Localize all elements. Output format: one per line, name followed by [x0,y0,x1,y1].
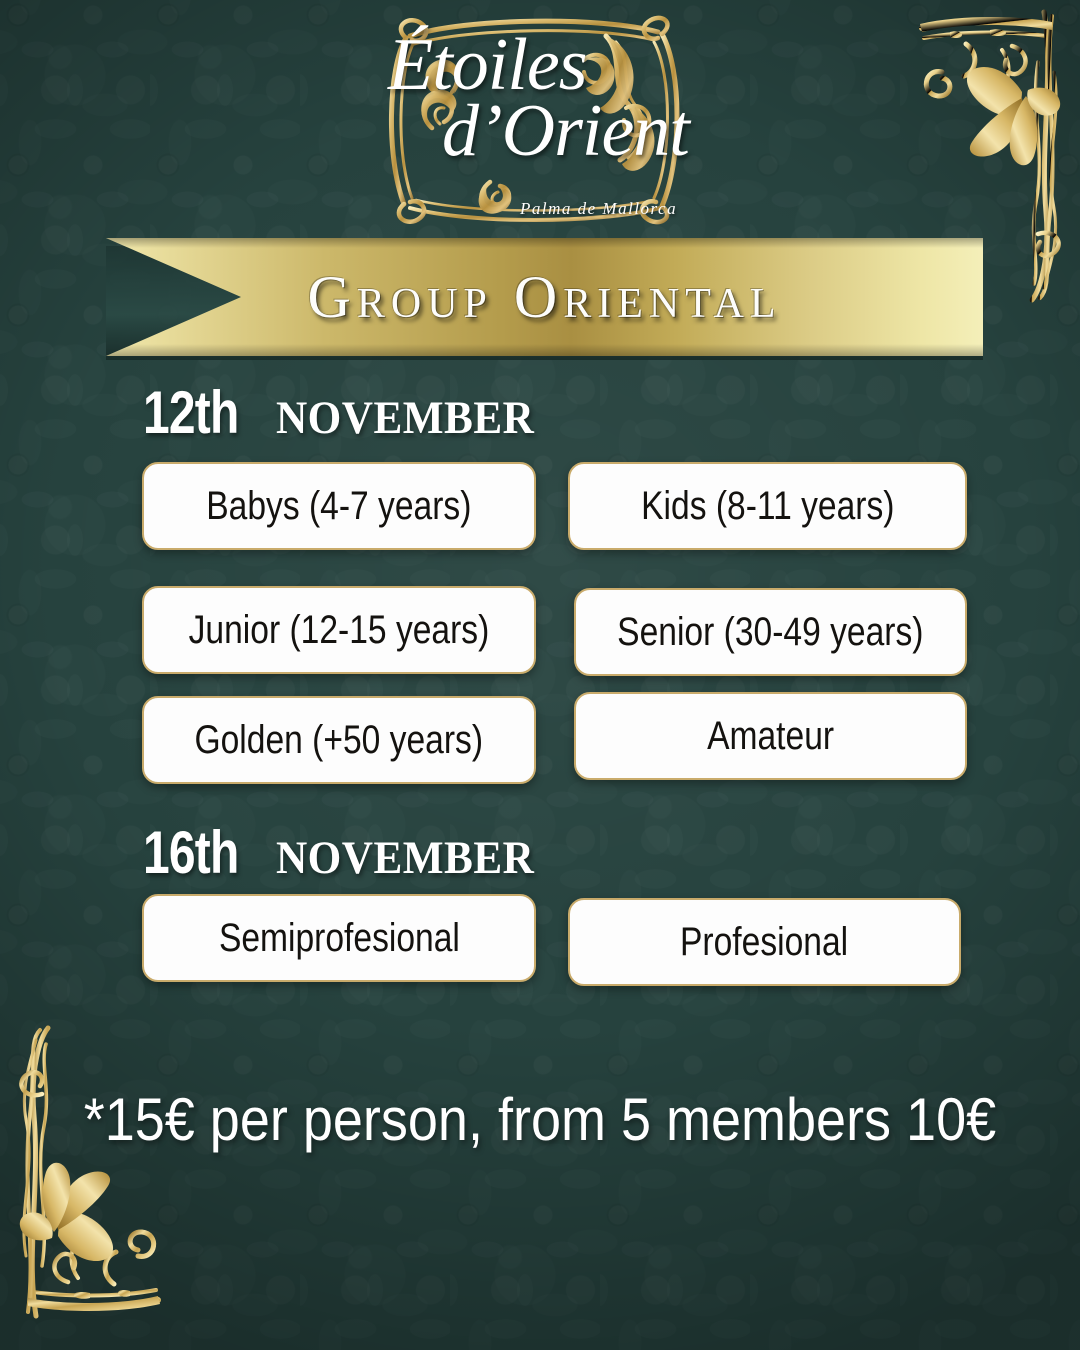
date-heading-1-month: NOVEMBER [276,391,534,445]
title-banner: Group Oriental [106,238,983,360]
category-pill-babys[interactable]: Babys (4-7 years) [142,462,536,550]
price-note-text: *15€ per person, from 5 members 10€ [84,1085,996,1154]
date-heading-2-month: NOVEMBER [276,831,534,885]
category-pill-kids-label: Kids (8-11 years) [641,484,894,529]
category-pill-junior[interactable]: Junior (12-15 years) [142,586,536,674]
date-heading-1: 12th NOVEMBER [143,378,557,447]
category-pill-amateur[interactable]: Amateur [574,692,967,780]
category-pill-babys-label: Babys (4-7 years) [206,484,471,529]
corner-ornament-bottom-left-icon [0,1006,186,1326]
category-pill-golden-label: Golden (+50 years) [195,718,484,763]
category-pill-golden[interactable]: Golden (+50 years) [142,696,536,784]
category-pill-kids[interactable]: Kids (8-11 years) [568,462,967,550]
logo-ornament-frame [370,8,710,233]
corner-ornament-top-right-icon [894,2,1080,322]
category-pill-amateur-label: Amateur [707,714,834,759]
date-heading-2-day: 16th [143,818,239,887]
category-pill-junior-label: Junior (12-15 years) [189,608,490,653]
category-pill-profesional[interactable]: Profesional [568,898,961,986]
category-pill-senior-label: Senior (30-49 years) [617,610,923,655]
category-pill-senior[interactable]: Senior (30-49 years) [574,588,967,676]
category-pill-profesional-label: Profesional [680,920,848,965]
poster-root: Étoiles d’Orient Palma de Mallorca Group… [0,0,1080,1350]
category-pill-semiprofesional-label: Semiprofesional [219,916,460,961]
date-heading-1-day: 12th [143,378,239,447]
brand-logo: Étoiles d’Orient Palma de Mallorca [370,8,710,233]
date-heading-2: 16th NOVEMBER [143,818,557,887]
category-pill-semiprofesional[interactable]: Semiprofesional [142,894,536,982]
banner-title-text: Group Oriental [106,238,983,356]
